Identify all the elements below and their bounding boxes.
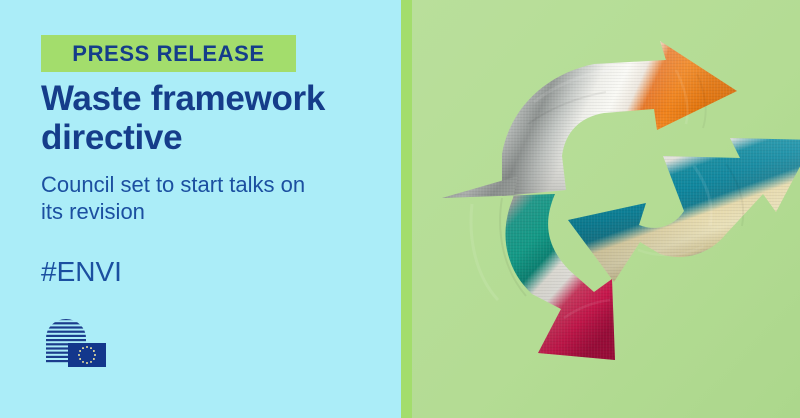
press-release-badge-label: PRESS RELEASE [72, 43, 264, 65]
eu-flag-icon [68, 343, 106, 367]
subtitle-line-1: Council set to start talks on [41, 172, 381, 199]
recycling-symbol-textiles-image [412, 0, 800, 418]
subtitle: Council set to start talks on its revisi… [41, 172, 381, 226]
hero-photo [412, 0, 800, 418]
headline-line-2: directive [41, 118, 381, 157]
left-text-panel: PRESS RELEASE Waste framework directive … [0, 0, 401, 418]
green-accent-strip [401, 0, 412, 418]
hashtag-label: #ENVI [41, 258, 122, 286]
headline-line-1: Waste framework [41, 79, 381, 118]
council-of-eu-logo [43, 316, 109, 368]
press-release-badge: PRESS RELEASE [41, 35, 296, 72]
press-release-banner: PRESS RELEASE Waste framework directive … [0, 0, 800, 418]
page-title: Waste framework directive [41, 79, 381, 157]
subtitle-line-2: its revision [41, 199, 381, 226]
council-of-eu-logo-icon [43, 316, 109, 368]
